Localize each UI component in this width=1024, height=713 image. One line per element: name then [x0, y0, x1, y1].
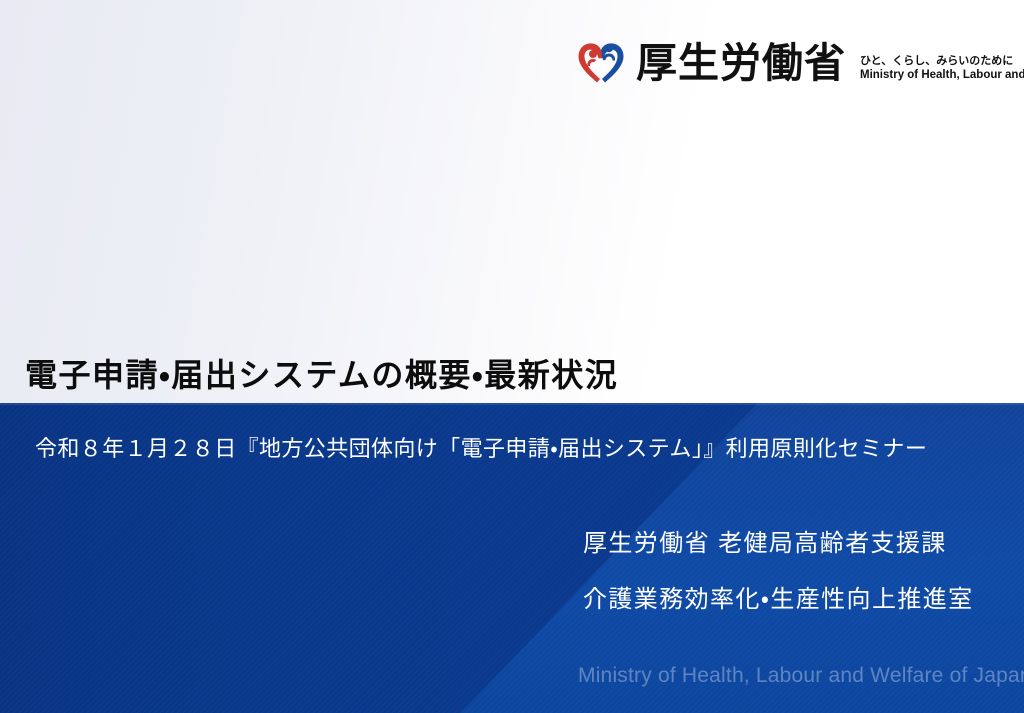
mhlw-heart-figures-logo-icon: [576, 38, 626, 88]
page-title: 電子申請・届出システムの概要・最新状況: [25, 356, 618, 394]
department-line-bureau: 厚生労働省 老健局高齢者支援課: [583, 532, 974, 556]
ministry-logo-lockup: 厚生労働省 ひと、くらし、みらいのために Ministry of Health,…: [576, 38, 1024, 88]
ministry-tagline-en: Ministry of Health, Labour and Welfare: [860, 68, 1024, 83]
title-slide: 厚生労働省 ひと、くらし、みらいのために Ministry of Health,…: [0, 0, 1024, 713]
ministry-wordmark: 厚生労働省: [636, 43, 846, 84]
ministry-tagline: ひと、くらし、みらいのために Ministry of Health, Labou…: [860, 44, 1024, 83]
department-line-office: 介護業務効率化・生産性向上推進室: [583, 588, 974, 612]
department-block: 厚生労働省 老健局高齢者支援課 介護業務効率化・生産性向上推進室: [583, 532, 974, 612]
ministry-english-watermark: Ministry of Health, Labour and Welfare o…: [578, 664, 1024, 688]
seminar-subtitle: 令和８年１月２８日『地方公共団体向け「電子申請・届出システム」』利用原則化セミナ…: [35, 431, 927, 463]
ministry-tagline-jp: ひと、くらし、みらいのために: [860, 54, 1024, 68]
